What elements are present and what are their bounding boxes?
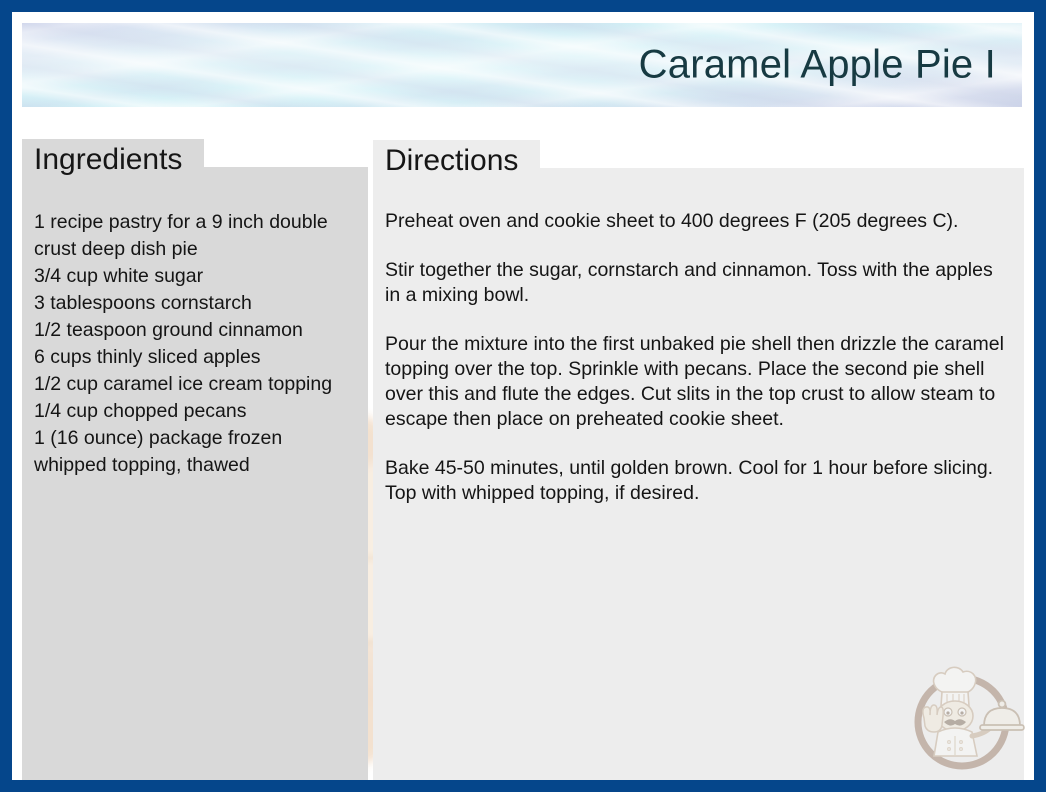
list-item: 3/4 cup white sugar	[34, 263, 356, 290]
recipe-columns: Ingredients 1 recipe pastry for a 9 inch…	[22, 127, 1024, 780]
list-item: 6 cups thinly sliced apples	[34, 344, 356, 371]
title-banner: Caramel Apple Pie I	[22, 23, 1022, 107]
direction-step: Preheat oven and cookie sheet to 400 deg…	[385, 209, 1004, 234]
list-item: 1 recipe pastry for a 9 inch double crus…	[34, 209, 356, 263]
directions-heading: Directions	[373, 140, 540, 182]
ingredients-heading: Ingredients	[22, 139, 204, 181]
list-item: 3 tablespoons cornstarch	[34, 290, 356, 317]
list-item: 1 (16 ounce) package frozen whipped topp…	[34, 425, 356, 479]
list-item: 1/2 cup caramel ice cream topping	[34, 371, 356, 398]
directions-panel: Directions Preheat oven and cookie sheet…	[373, 127, 1024, 780]
list-item: 1/4 cup chopped pecans	[34, 398, 356, 425]
page-title: Caramel Apple Pie I	[639, 43, 996, 88]
direction-step: Bake 45-50 minutes, until golden brown. …	[385, 456, 1004, 506]
list-item: 1/2 teaspoon ground cinnamon	[34, 317, 356, 344]
direction-step: Stir together the sugar, cornstarch and …	[385, 258, 1004, 308]
recipe-card: Caramel Apple Pie I	[12, 12, 1034, 780]
direction-step: Pour the mixture into the first unbaked …	[385, 332, 1004, 432]
ingredients-panel: Ingredients 1 recipe pastry for a 9 inch…	[22, 127, 368, 780]
page-border: Caramel Apple Pie I	[0, 0, 1046, 792]
directions-list: Preheat oven and cookie sheet to 400 deg…	[373, 127, 1024, 506]
